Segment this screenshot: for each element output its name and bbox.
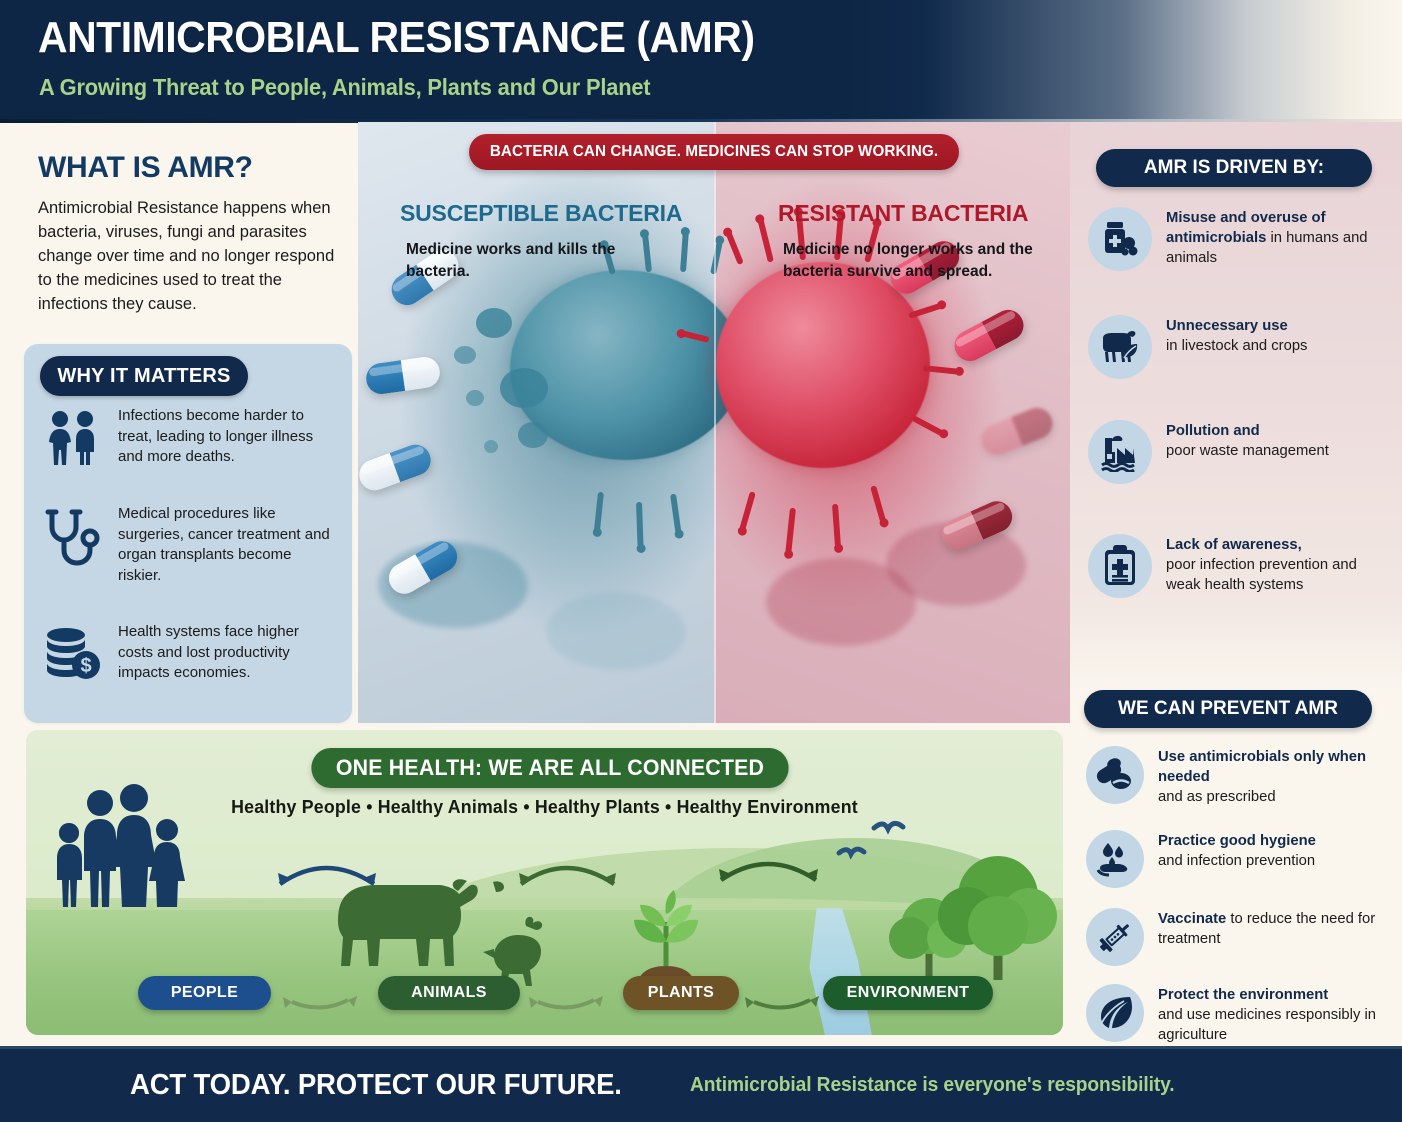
page-header: ANTIMICROBIAL RESISTANCE (AMR) A Growing… <box>0 0 1402 122</box>
resistant-heading: RESISTANT BACTERIA <box>778 200 1028 227</box>
left-column: WHAT IS AMR? Antimicrobial Resistance ha… <box>0 122 358 727</box>
driven-by-heading: AMR IS DRIVEN BY: <box>1096 149 1372 187</box>
why-item-text: Health systems face higher costs and los… <box>118 622 333 684</box>
panel-divider <box>714 122 716 723</box>
why-item: $ Health systems face higher costs and l… <box>42 622 333 684</box>
page-footer: ACT TODAY. PROTECT OUR FUTURE. Antimicro… <box>0 1049 1402 1122</box>
what-is-amr-heading: WHAT IS AMR? <box>38 151 253 185</box>
driven-by-item-text: Pollution and poor waste management <box>1166 420 1329 484</box>
arrow-people-animals <box>278 868 376 884</box>
capsules-icon <box>1086 746 1144 804</box>
driven-by-item-text: Unnecessary use in livestock and crops <box>1166 315 1307 379</box>
page-subtitle: A Growing Threat to People, Animals, Pla… <box>39 76 650 99</box>
footer-call-to-action: ACT TODAY. PROTECT OUR FUTURE. <box>130 1069 622 1102</box>
prevent-item: Practice good hygiene and infection prev… <box>1086 830 1392 888</box>
susceptible-text: Medicine works and kills the bacteria. <box>406 239 636 283</box>
chip-plants[interactable]: PLANTS <box>623 976 739 1010</box>
what-is-amr-body: Antimicrobial Resistance happens when ba… <box>38 197 348 317</box>
stethoscope-icon <box>42 504 104 587</box>
prevent-item: Protect the environment and use medicine… <box>1086 984 1392 1045</box>
chip-people[interactable]: PEOPLE <box>138 976 271 1010</box>
cow-silhouette <box>338 879 504 966</box>
prevent-heading: WE CAN PREVENT AMR <box>1084 690 1372 728</box>
prevent-item-bold: Protect the environment <box>1158 987 1328 1003</box>
handwash-icon <box>1086 830 1144 888</box>
driven-by-item-rest: poor infection prevention and weak healt… <box>1166 557 1357 593</box>
bacteria-comparison-panel: BACTERIA CAN CHANGE. MEDICINES CAN STOP … <box>358 122 1070 723</box>
driven-by-item-rest: poor waste management <box>1166 443 1329 459</box>
driven-by-item: Misuse and overuse of antimicrobials in … <box>1088 207 1388 271</box>
prevent-item-text: Protect the environment and use medicine… <box>1158 984 1392 1045</box>
prevent-item-text: Use antimicrobials only when needed and … <box>1158 746 1392 807</box>
prevent-item-bold: Vaccinate <box>1158 911 1226 927</box>
prevent-item-rest: and use medicines responsibly in agricul… <box>1158 1007 1376 1043</box>
why-item-text: Infections become harder to treat, leadi… <box>118 406 333 468</box>
why-item-text: Medical procedures like surgeries, cance… <box>118 504 333 587</box>
prevent-item: Use antimicrobials only when needed and … <box>1086 746 1392 807</box>
prevent-item-text: Practice good hygiene and infection prev… <box>1158 830 1316 888</box>
why-item: Medical procedures like surgeries, cance… <box>42 504 333 587</box>
factory-water-icon <box>1088 420 1152 484</box>
bird-icon <box>839 823 903 854</box>
resistant-text: Medicine no longer works and the bacteri… <box>783 239 1033 283</box>
svg-text:$: $ <box>80 655 91 677</box>
driven-by-item-bold: Lack of awareness, <box>1166 537 1302 553</box>
people-icon <box>42 406 104 468</box>
why-it-matters-card: WHY IT MATTERS Infections become harder … <box>24 344 352 723</box>
driven-by-item-text: Misuse and overuse of antimicrobials in … <box>1166 207 1388 271</box>
susceptible-heading: SUSCEPTIBLE BACTERIA <box>400 200 682 227</box>
cow-leaf-icon <box>1088 315 1152 379</box>
footer-tagline: Antimicrobial Resistance is everyone's r… <box>690 1074 1175 1097</box>
arrow-plants-environment <box>719 864 818 880</box>
prevent-item-rest: and as prescribed <box>1158 789 1276 805</box>
one-health-subtitle: Healthy People • Healthy Animals • Healt… <box>47 796 1043 818</box>
chip-connector-arrow-env <box>745 996 819 1008</box>
coins-dollar-icon: $ <box>42 622 104 684</box>
arrow-animals-plants <box>519 868 616 884</box>
why-it-matters-heading: WHY IT MATTERS <box>40 356 248 396</box>
driven-by-item: Lack of awareness, poor infection preven… <box>1088 534 1388 598</box>
driven-by-item-bold: Unnecessary use <box>1166 318 1288 334</box>
one-health-panel: ONE HEALTH: WE ARE ALL CONNECTED Healthy… <box>26 730 1063 1035</box>
plant-illustration <box>634 890 698 982</box>
prevent-item-bold: Use antimicrobials only when needed <box>1158 749 1366 785</box>
driven-by-item: Unnecessary use in livestock and crops <box>1088 315 1388 379</box>
comparison-banner: BACTERIA CAN CHANGE. MEDICINES CAN STOP … <box>469 134 959 170</box>
clipboard-medical-icon <box>1088 534 1152 598</box>
page-title: ANTIMICROBIAL RESISTANCE (AMR) <box>38 16 755 60</box>
one-health-heading: ONE HEALTH: WE ARE ALL CONNECTED <box>311 748 788 788</box>
prevent-item-bold: Practice good hygiene <box>1158 833 1316 849</box>
prevent-item-rest: and infection prevention <box>1158 853 1315 869</box>
syringe-icon <box>1086 908 1144 966</box>
right-column: AMR IS DRIVEN BY: Misuse and overuse of … <box>1070 122 1402 1045</box>
driven-by-item-text: Lack of awareness, poor infection preven… <box>1166 534 1388 598</box>
driven-by-item-bold: Pollution and <box>1166 423 1260 439</box>
why-item: Infections become harder to treat, leadi… <box>42 406 333 468</box>
tree-illustration <box>889 856 1057 980</box>
pill-bottle-icon <box>1088 207 1152 271</box>
driven-by-item-rest: in livestock and crops <box>1166 338 1307 354</box>
leaf-icon <box>1086 984 1144 1042</box>
chip-environment[interactable]: ENVIRONMENT <box>823 976 993 1010</box>
driven-by-item: Pollution and poor waste management <box>1088 420 1388 484</box>
prevent-item: Vaccinate to reduce the need for treatme… <box>1086 908 1392 966</box>
prevent-item-text: Vaccinate to reduce the need for treatme… <box>1158 908 1392 966</box>
chip-animals[interactable]: ANIMALS <box>378 976 520 1010</box>
